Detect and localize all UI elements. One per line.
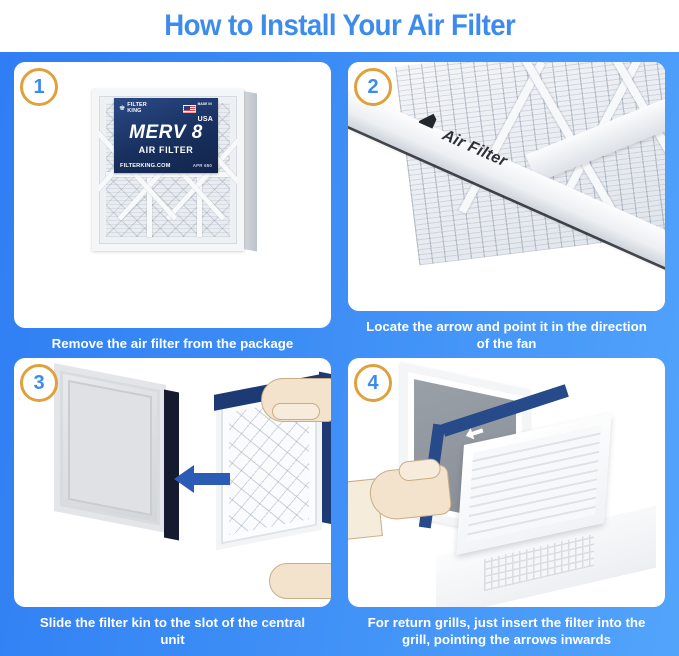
unit-slot-inner [68,380,152,516]
step-1-illustration: ♚ FILTER KING MADE IN USA [14,62,331,328]
step-4-panel: 4 [348,358,665,607]
step-4-caption: For return grills, just insert the filte… [348,607,665,650]
step-3: 3 Slide the filte [14,358,331,650]
product-subtitle: AIR FILTER [114,145,218,155]
air-filter-product: ♚ FILTER KING MADE IN USA [92,89,257,252]
insert-direction-arrow-icon [174,462,230,501]
label-top-row: ♚ FILTER KING MADE IN USA [114,98,218,116]
step-4-illustration [348,358,665,607]
step-3-number-badge: 3 [20,364,58,402]
step-4-number-badge: 4 [354,364,392,402]
us-flag-icon [183,105,196,113]
made-in-usa-text: MADE IN USA [198,93,213,125]
filter-corner-photo: Air Filter [348,62,665,311]
step-1-number-badge: 1 [20,68,58,106]
grille-louvers [467,425,601,542]
steps-board: 1 [0,52,679,656]
hand-inserting-filter [368,464,453,522]
step-1-panel: 1 [14,62,331,328]
step-2-panel: 2 Air Filter [348,62,665,311]
brand-line-2: KING [127,108,141,114]
step-3-panel: 3 [14,358,331,607]
hand-upper [261,378,331,422]
step-4: 4 [348,358,665,650]
step-3-caption: Slide the filter kin to the slot of the … [14,607,331,650]
page-title: How to Install Your Air Filter [164,9,515,43]
label-bottom-row: FILTERKING.COM APR 650 [114,163,218,169]
made-in-label: MADE IN [198,102,212,106]
step-1-caption: Remove the air filter from the package [14,328,331,354]
brand-website: FILTERKING.COM [120,163,171,169]
crown-icon: ♚ [119,105,125,112]
central-unit-slot [54,363,166,533]
apr-rating: APR 650 [193,163,212,168]
step-1: 1 [14,62,331,354]
step-2: 2 Air Filter [348,62,665,354]
filter-product-label: ♚ FILTER KING MADE IN USA [114,98,218,173]
merv-rating: MERV 8 [114,122,218,144]
made-in-usa-badge: MADE IN USA [183,93,213,125]
step-2-number-badge: 2 [354,68,392,106]
step-3-illustration [14,358,331,607]
page-header: How to Install Your Air Filter [0,0,679,52]
hand-lower [269,563,331,599]
step-2-caption: Locate the arrow and point it in the dir… [348,311,665,354]
filter-king-logo: ♚ FILTER KING [119,103,147,114]
brand-name: FILTER KING [127,103,147,114]
step-2-illustration: Air Filter [348,62,665,311]
